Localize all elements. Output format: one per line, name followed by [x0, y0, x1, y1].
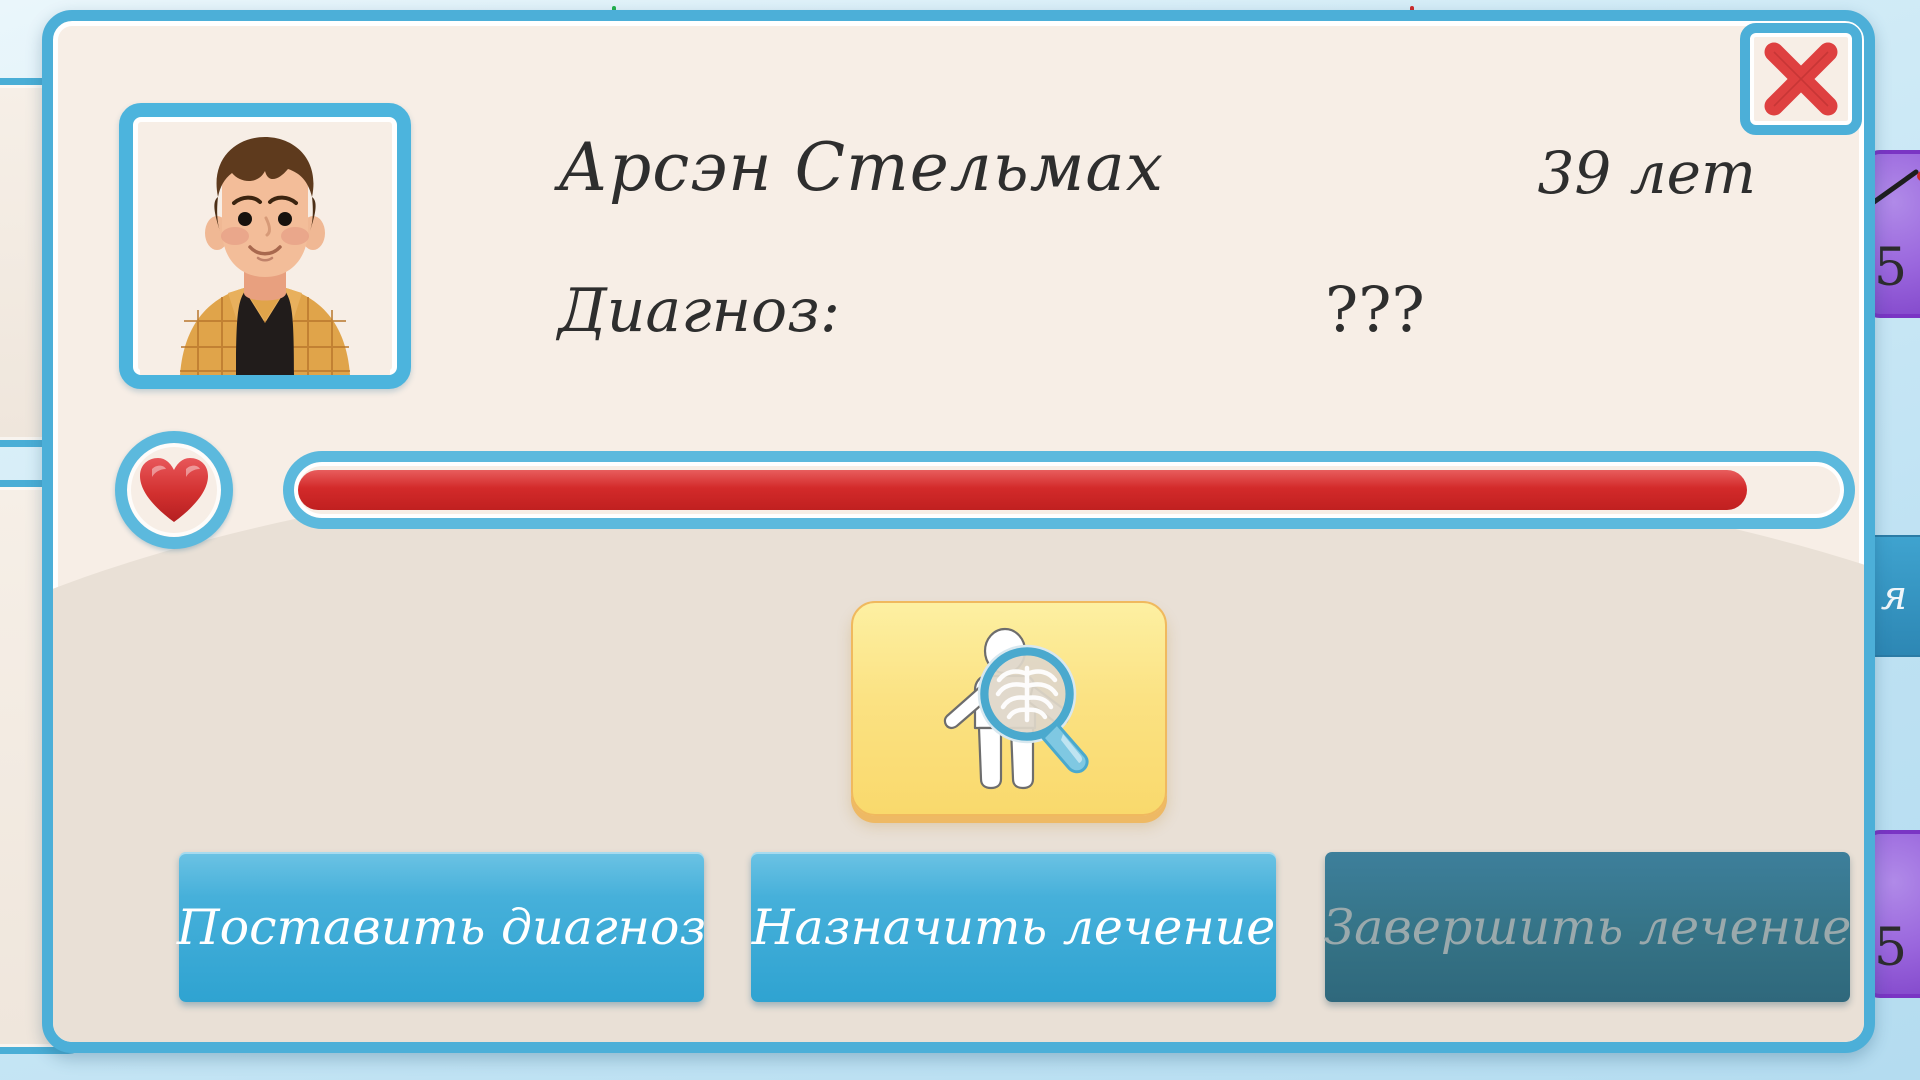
- health-bar-row: [53, 433, 1864, 541]
- patient-header: Арсэн Стельмах 39 лет Диагноз: ???: [53, 21, 1864, 431]
- side-button-blue-label: я: [1881, 573, 1907, 619]
- diagnose-button-label: Поставить диагноз: [177, 899, 706, 956]
- diagnosis-value: ???: [1325, 273, 1425, 346]
- examine-patient-button[interactable]: [851, 601, 1167, 816]
- patient-age: 39 лет: [1538, 139, 1757, 207]
- side-button-digit-bottom: 5: [1874, 918, 1907, 978]
- heart-icon: [138, 456, 210, 524]
- diagnosis-label: Диагноз:: [558, 276, 840, 346]
- patient-card-dialog: Арсэн Стельмах 39 лет Диагноз: ???: [42, 10, 1875, 1053]
- prescribe-treatment-button[interactable]: Назначить лечение: [751, 852, 1276, 1002]
- finish-treatment-button: Завершить лечение: [1325, 852, 1850, 1002]
- avatar: [119, 103, 411, 389]
- health-bar-track: [283, 451, 1855, 529]
- prescribe-treatment-button-label: Назначить лечение: [752, 899, 1275, 956]
- syringe-icon: [1872, 168, 1920, 210]
- patient-portrait-icon: [140, 125, 390, 375]
- game-screen: 5 я 5: [0, 0, 1920, 1080]
- health-bar-fill: [298, 470, 1747, 510]
- patient-name: Арсэн Стельмах: [558, 129, 1164, 206]
- close-icon: [1762, 40, 1840, 118]
- finish-treatment-button-label: Завершить лечение: [1324, 899, 1852, 956]
- close-button[interactable]: [1740, 23, 1862, 135]
- action-button-row: Поставить диагноз Назначить лечение Заве…: [53, 852, 1864, 1004]
- diagnose-button[interactable]: Поставить диагноз: [179, 852, 704, 1002]
- side-button-digit-top: 5: [1874, 238, 1907, 298]
- xray-magnifier-icon: [919, 624, 1099, 794]
- heart-badge: [115, 431, 233, 549]
